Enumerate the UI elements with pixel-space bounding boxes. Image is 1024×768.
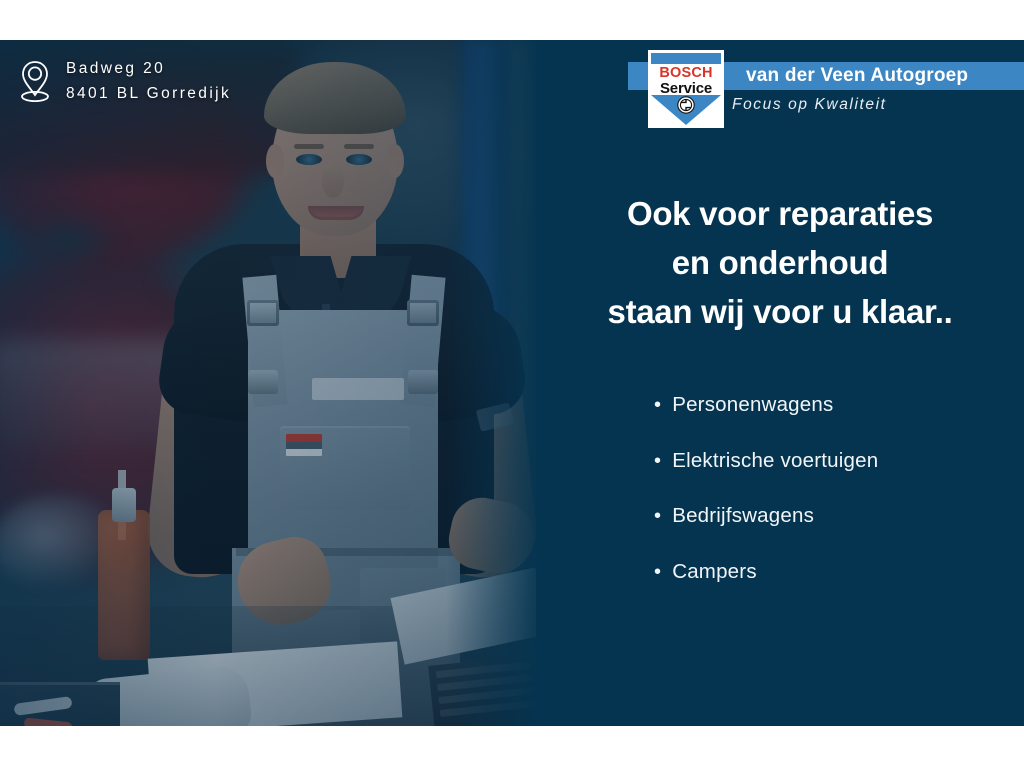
bosch-logo-top-bar — [651, 53, 721, 64]
address-text: Badweg 20 8401 BL Gorredijk — [66, 56, 231, 106]
bullet-dot-icon: • — [654, 562, 661, 582]
headline-line-1: Ook voor reparaties — [536, 190, 1024, 239]
service-label: Bedrijfswagens — [672, 506, 814, 527]
location-pin-icon — [18, 58, 52, 104]
bullet-dot-icon: • — [654, 451, 661, 471]
service-label: Campers — [672, 562, 757, 583]
address-block: Badweg 20 8401 BL Gorredijk — [18, 56, 231, 106]
bullet-dot-icon: • — [654, 506, 661, 526]
bosch-wordmark: BOSCH — [651, 66, 721, 81]
address-street: Badweg 20 — [66, 60, 165, 77]
bosch-armature-icon — [677, 96, 695, 114]
list-item: • Personenwagens — [654, 395, 878, 416]
bosch-service-word: Service — [651, 81, 721, 96]
services-list: • Personenwagens • Elektrische voertuige… — [654, 395, 878, 617]
info-panel: BOSCH Service van der Veen Autogroep Foc… — [536, 40, 1024, 726]
list-item: • Campers — [654, 562, 878, 583]
photo-stage — [0, 40, 536, 726]
service-label: Elektrische voertuigen — [672, 451, 878, 472]
photo-right-fade — [446, 40, 536, 726]
brand-tagline: Focus op Kwaliteit — [732, 96, 887, 114]
promo-banner: Badweg 20 8401 BL Gorredijk BOSCH Servic… — [0, 40, 1024, 726]
headline: Ook voor reparaties en onderhoud staan w… — [536, 190, 1024, 336]
address-postcode-city: 8401 BL Gorredijk — [66, 85, 231, 102]
bullet-dot-icon: • — [654, 395, 661, 415]
list-item: • Elektrische voertuigen — [654, 451, 878, 472]
bosch-service-logo: BOSCH Service — [648, 50, 724, 128]
mechanic-photo: Badweg 20 8401 BL Gorredijk — [0, 40, 536, 726]
service-label: Personenwagens — [672, 395, 833, 416]
headline-line-2: en onderhoud — [536, 239, 1024, 288]
list-item: • Bedrijfswagens — [654, 506, 878, 527]
company-name: van der Veen Autogroep — [746, 62, 968, 90]
headline-line-3: staan wij voor u klaar.. — [536, 288, 1024, 337]
